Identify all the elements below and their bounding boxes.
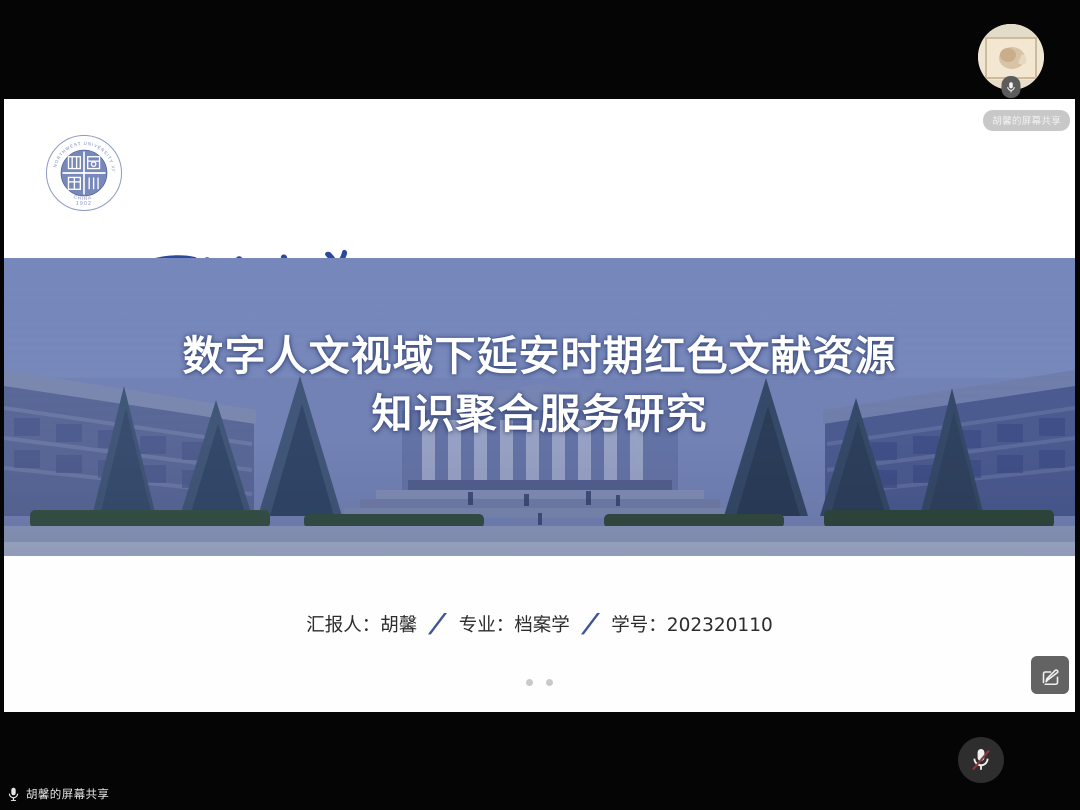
pencil-annotate-icon[interactable]: [1031, 656, 1069, 694]
university-seal-icon: NORTHWEST UNIVERSITY XI'AN CHINA 1902: [46, 135, 122, 211]
meta-separator-2: /: [583, 611, 599, 637]
microphone-icon: [8, 787, 19, 802]
slide-logo-header: NORTHWEST UNIVERSITY XI'AN CHINA 1902: [4, 99, 1075, 258]
presenter-label: 汇报人：胡馨: [306, 611, 417, 637]
major-label: 专业：档案学: [459, 611, 570, 637]
status-bar: 胡馨的屏幕共享: [8, 786, 109, 802]
slide-title: 数字人文视域下延安时期红色文献资源 知识聚合服务研究: [4, 327, 1075, 443]
slide-meta-line: 汇报人：胡馨 / 专业：档案学 / 学号：202320110: [4, 611, 1075, 637]
slide-pagination-dots[interactable]: [4, 679, 1075, 686]
meta-separator-1: /: [430, 611, 446, 637]
pagination-dot[interactable]: [526, 679, 533, 686]
shared-screen-slide[interactable]: NORTHWEST UNIVERSITY XI'AN CHINA 1902: [4, 99, 1075, 712]
screen-share-badge: 胡馨的屏幕共享: [983, 110, 1070, 131]
svg-text:1902: 1902: [76, 201, 92, 207]
pagination-dot[interactable]: [546, 679, 553, 686]
student-id-label: 学号：202320110: [611, 611, 772, 637]
status-bar-label: 胡馨的屏幕共享: [26, 786, 109, 802]
participant-avatar-tile[interactable]: [978, 24, 1044, 90]
video-conference-stage: NORTHWEST UNIVERSITY XI'AN CHINA 1902: [0, 0, 1080, 810]
microphone-muted-icon[interactable]: [958, 737, 1004, 783]
microphone-icon: [1002, 76, 1021, 98]
